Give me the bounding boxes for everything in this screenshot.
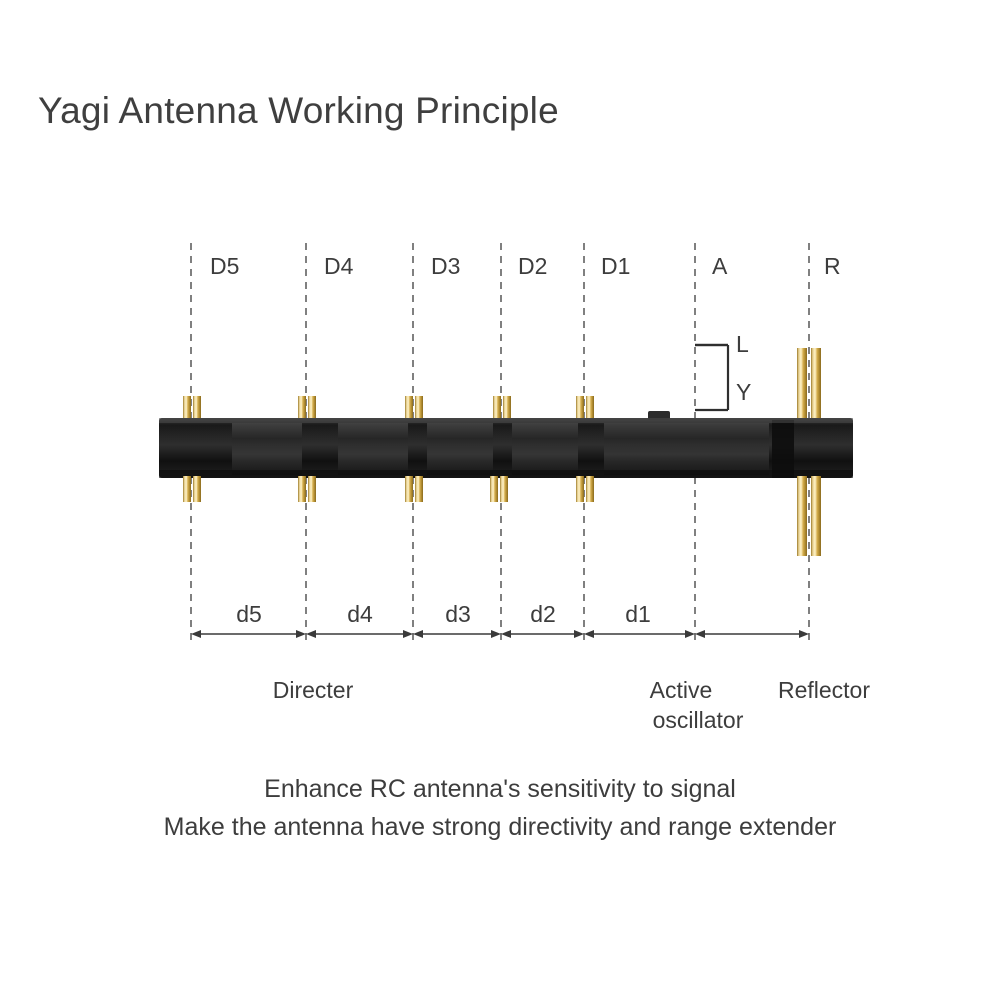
top-label-group: D5 D4 D3 D2 D1 A R [210,253,841,279]
dim-label-d1: d1 [625,601,651,627]
section-label-oscillator: oscillator [653,707,744,733]
ly-bracket [695,345,728,410]
dim-label-d2: d2 [530,601,556,627]
lower-rods [183,476,821,556]
top-label-d5: D5 [210,253,239,279]
dimension-label-group: d5 d4 d3 d2 d1 [236,601,651,627]
caption-line-1: Enhance RC antenna's sensitivity to sign… [0,775,1000,804]
top-label-d3: D3 [431,253,460,279]
top-label-r: R [824,253,841,279]
dim-label-d3: d3 [445,601,471,627]
top-label-d2: D2 [518,253,547,279]
yagi-antenna-diagram: D5 D4 D3 D2 D1 A R L Y [0,0,1000,1000]
dim-label-d5: d5 [236,601,262,627]
caption-line-2: Make the antenna have strong directivity… [0,813,1000,842]
section-label-group: Directer Active oscillator Reflector [273,677,871,733]
section-label-directer: Directer [273,677,354,703]
section-label-reflector: Reflector [778,677,870,703]
upper-rods [183,348,821,423]
antenna-boom [159,411,853,478]
diagram-page: Yagi Antenna Working Principle [0,0,1000,1000]
section-label-active: Active [650,677,713,703]
bracket-label-l: L [736,331,749,357]
top-label-d1: D1 [601,253,630,279]
dim-label-d4: d4 [347,601,373,627]
top-label-a: A [712,253,728,279]
bracket-label-y: Y [736,379,751,405]
top-label-d4: D4 [324,253,354,279]
